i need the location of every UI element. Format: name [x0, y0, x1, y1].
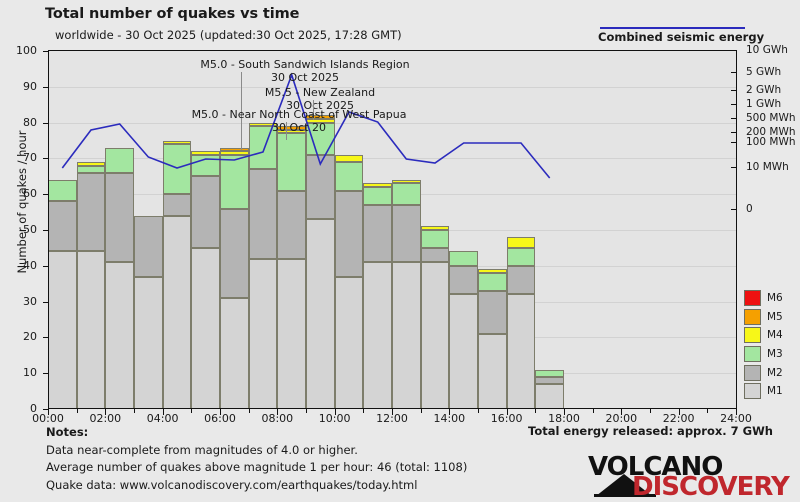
legend-label-m1: M1 — [767, 385, 783, 397]
chart-canvas: Total number of quakes vs time worldwide… — [0, 0, 800, 500]
volcanodiscovery-logo[interactable]: VOLCANO DISCOVERY — [580, 452, 758, 496]
legend-label-m2: M2 — [767, 367, 783, 379]
legend-item-m4[interactable]: M4 — [744, 326, 796, 345]
legend-item-m6[interactable]: M6 — [744, 289, 796, 308]
legend-item-m5[interactable]: M5 — [744, 308, 796, 327]
x-tick-mark-minor — [249, 409, 250, 413]
notes-block: Notes: Data near-complete from magnitude… — [46, 424, 467, 494]
notes-heading: Notes: — [46, 424, 467, 442]
x-tick-mark-minor — [478, 409, 479, 413]
legend-item-m3[interactable]: M3 — [744, 345, 796, 364]
magnitude-legend: M6M5M4M3M2M1 — [744, 289, 796, 401]
legend-swatch-m6 — [744, 290, 761, 306]
legend-swatch-m5 — [744, 309, 761, 325]
legend-swatch-m4 — [744, 327, 761, 343]
x-tick-mark-minor — [593, 409, 594, 413]
legend-swatch-m1 — [744, 383, 761, 399]
y-axis-label: Number of quakes / hour — [15, 102, 29, 302]
x-tick-mark-minor — [707, 409, 708, 413]
x-tick-label: 16:00 — [484, 412, 530, 425]
x-tick-mark-minor — [535, 409, 536, 413]
legend-swatch-m3 — [744, 346, 761, 362]
notes-line-3[interactable]: Quake data: www.volcanodiscovery.com/ear… — [46, 477, 467, 495]
legend-item-m2[interactable]: M2 — [744, 363, 796, 382]
x-tick-mark-minor — [191, 409, 192, 413]
x-tick-mark-minor — [421, 409, 422, 413]
legend-label-m4: M4 — [767, 329, 783, 341]
x-tick-mark-minor — [77, 409, 78, 413]
x-tick-mark-minor — [363, 409, 364, 413]
x-tick-mark-minor — [650, 409, 651, 413]
notes-line-1: Data near-complete from magnitudes of 4.… — [46, 442, 467, 460]
legend-label-m5: M5 — [767, 311, 783, 323]
notes-line-2: Average number of quakes above magnitude… — [46, 459, 467, 477]
logo-word-discovery: DISCOVERY — [632, 472, 789, 502]
x-tick-mark-minor — [134, 409, 135, 413]
legend-swatch-m2 — [744, 365, 761, 381]
x-tick-mark-minor — [306, 409, 307, 413]
legend-item-m1[interactable]: M1 — [744, 382, 796, 401]
legend-label-m6: M6 — [767, 292, 783, 304]
total-energy-text: Total energy released: approx. 7 GWh — [528, 424, 773, 438]
legend-label-m3: M3 — [767, 348, 783, 360]
